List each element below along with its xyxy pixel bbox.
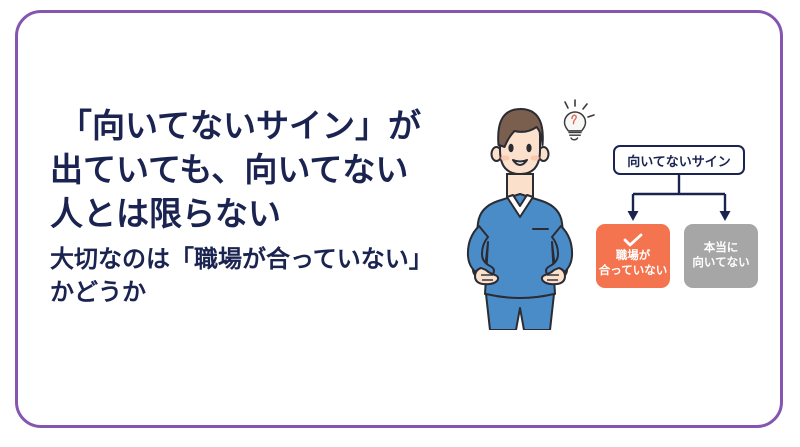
subhead-line-1: 大切なのは「職場が合っていない」 xyxy=(50,243,470,276)
eye-left xyxy=(508,144,513,152)
text-block: 「向いてないサイン」が 出ていても、向いてない 人とは限らない 大切なのは「職場… xyxy=(50,104,470,309)
diagram-connectors xyxy=(596,174,771,226)
flow-diagram: 向いてないサイン 職場が 合っていない 本当に 向いてない xyxy=(596,140,771,292)
headline-line-2: 出ていても、向いてない xyxy=(50,148,470,192)
diagram-branch-label-line-1: 職場が xyxy=(616,249,651,264)
check-icon xyxy=(623,233,643,247)
diagram-branch-workplace-mismatch: 職場が 合っていない xyxy=(596,224,670,288)
eye-right xyxy=(526,144,531,152)
slide-canvas: 「向いてないサイン」が 出ていても、向いてない 人とは限らない 大切なのは「職場… xyxy=(0,0,800,447)
diagram-branch-truly-unsuited: 本当に 向いてない xyxy=(684,224,758,288)
diagram-branch-label-line-2: 合っていない xyxy=(599,264,667,279)
headline-line-1: 「向いてないサイン」が xyxy=(50,104,470,148)
diagram-branch-label-line-1: 本当に xyxy=(704,241,739,256)
diagram-branch-label-line-2: 向いてない xyxy=(692,256,749,271)
diagram-top-box: 向いてないサイン xyxy=(613,145,745,175)
diagram-top-box-label: 向いてないサイン xyxy=(627,151,731,170)
lightbulb-icon xyxy=(565,100,595,140)
subhead-line-2: かどうか xyxy=(50,276,470,309)
headline-line-3: 人とは限らない xyxy=(50,192,470,236)
